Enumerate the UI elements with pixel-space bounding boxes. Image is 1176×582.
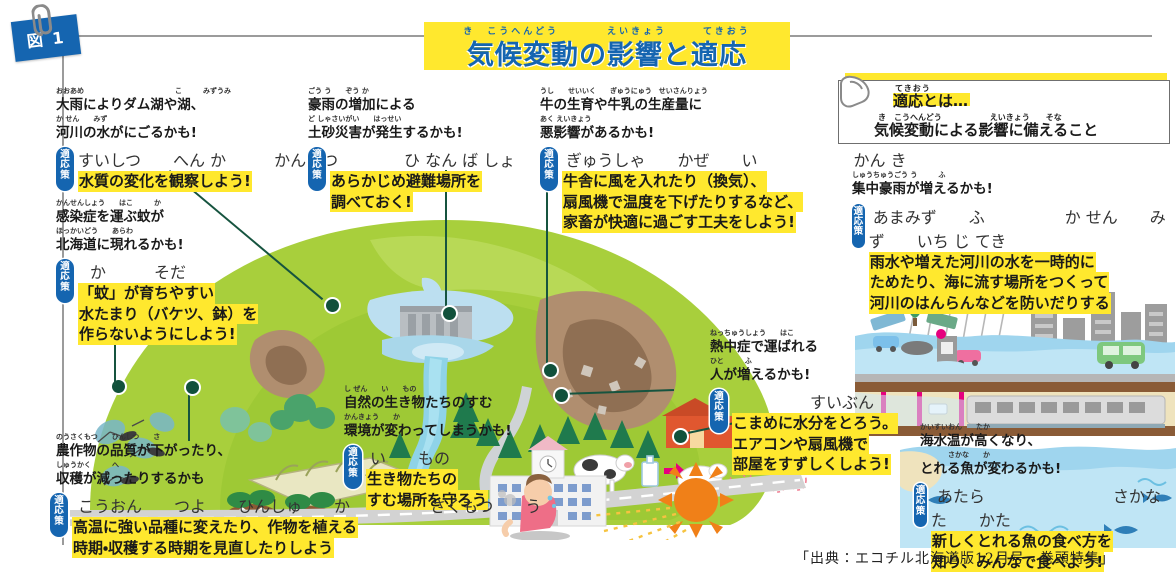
callout-action-line: エアコンや扇風機で: [732, 434, 869, 455]
callout-action-line: 作らないようにしよう!: [78, 324, 237, 345]
callout-head-ruby: おおあめ こ みずうみ: [56, 88, 338, 95]
callout-action-ruby: ぎゅうしゃ かぜ い かん き: [566, 151, 907, 170]
callout-heavy-rain: しゅうちゅうごう う ふ 集中豪雨が増えるかも! 適応策 あまみず ふ か せん…: [852, 172, 1176, 314]
callout-head-ruby: かんきょう か: [344, 414, 511, 421]
callout-head: ごう う ぞう か 豪雨の増加による ど しゃさいがい はっせい 土砂災害が発生…: [308, 88, 515, 143]
callout-head-ruby: しゅうちゅうごう う ふ: [852, 172, 1176, 179]
adaptation-badge: 適応策: [50, 493, 68, 537]
callout-head-line: 自然の生き物たちのすむ: [344, 393, 511, 414]
callout-head-line: 悪影響があるかも!: [540, 123, 907, 144]
callout-heatstroke: ねっちゅうしょう はこ 熱中症で運ばれる ひと ふ 人が増えるかも! 適応策 す…: [710, 330, 898, 475]
callout-head-line: 北海道に現れるかも!: [56, 235, 258, 256]
callout-action-line: 牛舎に風を入れたり（換気）、: [562, 171, 767, 192]
callout-head-ruby: かいすいおん たか: [920, 424, 1176, 431]
callout-action: すいぶん こまめに水分をとろう。 エアコンや扇風機で 部屋をすずしくしよう!: [732, 389, 898, 475]
callout-head-line: 農作物の品質が下がったり、: [56, 441, 541, 462]
adaptation-badge: 適応策: [56, 259, 74, 303]
callout-head-line: とれる魚が変わるかも!: [920, 459, 1176, 480]
callout-head-line: 集中豪雨が増えるかも!: [852, 179, 1176, 200]
callout-head: のうさくもつ ひんしつ さ 農作物の品質が下がったり、 しゅうかく へ 収穫が減…: [56, 434, 541, 489]
callout-action-line: あらかじめ避難場所を: [330, 171, 482, 192]
callout-action-line: 部屋をすずしくしよう!: [732, 454, 891, 475]
callout-head: おおあめ こ みずうみ 大雨によりダム湖や湖、 か せん みず 河川の水がにごる…: [56, 88, 338, 143]
callout-head: かいすいおん たか 海水温が高くなり、 さかな か とれる魚が変わるかも!: [920, 424, 1176, 479]
callout-head-ruby: しゅうかく へ: [56, 462, 541, 469]
paperclip-icon: [31, 3, 59, 44]
infographic-canvas: 図 1 き こうへんどう えいきょう てきおう 気候変動の影響と適応 てきおう …: [0, 0, 1176, 582]
connector-dot: [441, 305, 458, 322]
callout-action-line: 水たまり（バケツ、鉢）を: [78, 304, 258, 325]
callout-action-line: ためたり、海に流す場所をつくって: [869, 272, 1110, 293]
callout-head-ruby: かんせんしょう はこ か: [56, 200, 258, 207]
adaptation-badge: 適応策: [710, 389, 728, 433]
callout-action-ruby: か そだ: [90, 263, 186, 282]
callout-action-line: 高温に強い品種に変えたり、作物を植える: [72, 517, 358, 538]
callout-head: うし せいいく ぎゅうにゅう せいさんりょう 牛の生育や牛乳の生産量に あく え…: [540, 88, 907, 143]
callout-action-line: こまめに水分をとろう。: [732, 413, 898, 434]
callout-head-ruby: うし せいいく ぎゅうにゅう せいさんりょう: [540, 88, 907, 95]
source-citation: 「出典：エコチル北海道版12月号 巻頭特集」: [795, 548, 1115, 568]
callout-action-line: 時期・収穫する時期を見直したりしよう: [72, 538, 334, 559]
callout-head-ruby: ほっかいどう あらわ: [56, 228, 258, 235]
callout-action-line: 河川のはんらんなどを防いだりする: [869, 293, 1111, 314]
callout-head-line: 収穫が減ったりするかも: [56, 469, 541, 490]
callout-head-ruby: か せん みず: [56, 116, 338, 123]
callout-action: あまみず ふ か せん みず いち じ てき 雨水や増えた河川の水を一時的に た…: [869, 204, 1176, 314]
callout-head-ruby: ごう う ぞう か: [308, 88, 515, 95]
callout-head-line: 河川の水がにごるかも!: [56, 123, 338, 144]
callout-head: しゅうちゅうごう う ふ 集中豪雨が増えるかも!: [852, 172, 1176, 200]
callout-head: かんせんしょう はこ か 感染症を運ぶ蚊が ほっかいどう あらわ 北海道に現れる…: [56, 200, 258, 255]
callout-water-quality: おおあめ こ みずうみ 大雨によりダム湖や湖、 か せん みず 河川の水がにごる…: [56, 88, 338, 192]
callout-action-ruby: あたら さかな た かた: [931, 487, 1176, 530]
callout-action-line: 家畜が快適に過ごす工夫をしよう!: [562, 212, 796, 233]
callout-head-ruby: ひと ふ: [710, 358, 898, 365]
adaptation-badge: 適応策: [914, 483, 927, 527]
connector-dot: [672, 428, 689, 445]
callout-head-ruby: のうさくもつ ひんしつ さ: [56, 434, 541, 441]
callout-action: すいしつ へん か かんさつ 水質の変化を観察しよう!: [78, 147, 338, 192]
callout-crops: のうさくもつ ひんしつ さ 農作物の品質が下がったり、 しゅうかく へ 収穫が減…: [56, 434, 541, 558]
adaptation-badge: 適応策: [56, 147, 74, 191]
callout-mosquito: かんせんしょう はこ か 感染症を運ぶ蚊が ほっかいどう あらわ 北海道に現れる…: [56, 200, 258, 345]
callout-head: し ぜん い もの 自然の生き物たちのすむ かんきょう か 環境が変わってしまう…: [344, 386, 511, 441]
callout-head-line: 大雨によりダム湖や湖、: [56, 95, 338, 116]
callout-action-line: 雨水や増えた河川の水を一時的に: [869, 252, 1096, 273]
callout-head-line: 熱中症で運ばれる: [710, 337, 898, 358]
callout-action-line: 水質の変化を観察しよう!: [78, 171, 252, 192]
page-title: 気候変動の影響と適応: [424, 33, 790, 72]
callout-action: こうおん つよ ひんしゅ か さくもつ う 高温に強い品種に変えたり、作物を植え…: [72, 493, 541, 558]
callout-head-line: 牛の生育や牛乳の生産量に: [540, 95, 907, 116]
connector-dot: [324, 297, 341, 314]
callout-action-ruby: こうおん つよ ひんしゅ か さくもつ う: [78, 497, 541, 516]
callout-head-ruby: あく えいきょう: [540, 116, 907, 123]
adaptation-badge: 適応策: [852, 204, 865, 248]
adaptation-badge: 適応策: [308, 147, 326, 191]
callout-head-ruby: ねっちゅうしょう はこ: [710, 330, 898, 337]
callout-head-line: 豪雨の増加による: [308, 95, 515, 116]
callout-action: か そだ 「蚊」が育ちやすい 水たまり（バケツ、鉢）を 作らないようにしよう!: [78, 259, 258, 345]
callout-head-ruby: ど しゃさいがい はっせい: [308, 116, 515, 123]
callout-head-ruby: し ぜん い もの: [344, 386, 511, 393]
callout-action-ruby: すいぶん: [810, 393, 874, 412]
callout-landslide: ごう う ぞう か 豪雨の増加による ど しゃさいがい はっせい 土砂災害が発生…: [308, 88, 515, 212]
callout-action-ruby: あまみず ふ か せん みず いち じ てき: [869, 208, 1166, 251]
callout-head-line: 海水温が高くなり、: [920, 431, 1176, 452]
callout-action-line: 扇風機で温度を下げたりするなど、: [562, 192, 803, 213]
callout-action-ruby: ひ なん ば しょ: [404, 151, 515, 170]
connector-dot: [110, 378, 127, 395]
callout-head-line: 感染症を運ぶ蚊が: [56, 207, 258, 228]
callout-head-line: 人が増えるかも!: [710, 365, 898, 386]
callout-action-line: 「蚊」が育ちやすい: [78, 283, 215, 304]
connector-dot: [184, 379, 201, 396]
connector-dot: [542, 362, 559, 379]
callout-action: ひ なん ば しょ あらかじめ避難場所を 調べておく!: [330, 147, 515, 212]
callout-head-ruby: さかな か: [920, 452, 1176, 459]
adaptation-badge: 適応策: [540, 147, 558, 191]
connector-dot: [553, 387, 570, 404]
definition-body: 気候変動による影響に備えること: [874, 119, 1098, 140]
callout-head-line: 土砂災害が発生するかも!: [308, 123, 515, 144]
callout-action-ruby: すいしつ へん か かんさつ: [78, 151, 338, 170]
callout-action-line: 調べておく!: [330, 192, 413, 213]
callout-head: ねっちゅうしょう はこ 熱中症で運ばれる ひと ふ 人が増えるかも!: [710, 330, 898, 385]
